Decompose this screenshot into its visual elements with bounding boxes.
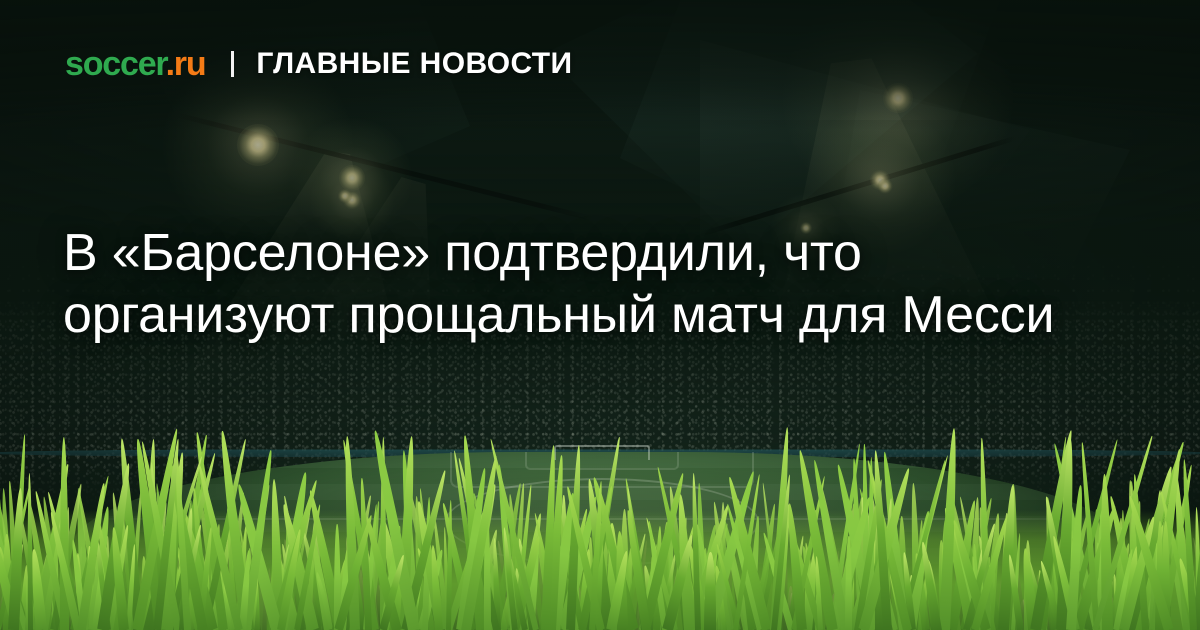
share-card: soccer.ru ГЛАВНЫЕ НОВОСТИ В «Барселоне» … xyxy=(0,0,1200,630)
article-headline: В «Барселоне» подтвердили, что организую… xyxy=(63,222,1073,346)
header-separator xyxy=(231,51,234,77)
site-header: soccer.ru ГЛАВНЫЕ НОВОСТИ xyxy=(65,47,573,81)
soccer-ru-logo[interactable]: soccer.ru xyxy=(65,47,205,81)
logo-domain-text: .ru xyxy=(166,45,206,83)
section-title: ГЛАВНЫЕ НОВОСТИ xyxy=(256,49,572,79)
logo-name-text: soccer xyxy=(65,45,166,83)
